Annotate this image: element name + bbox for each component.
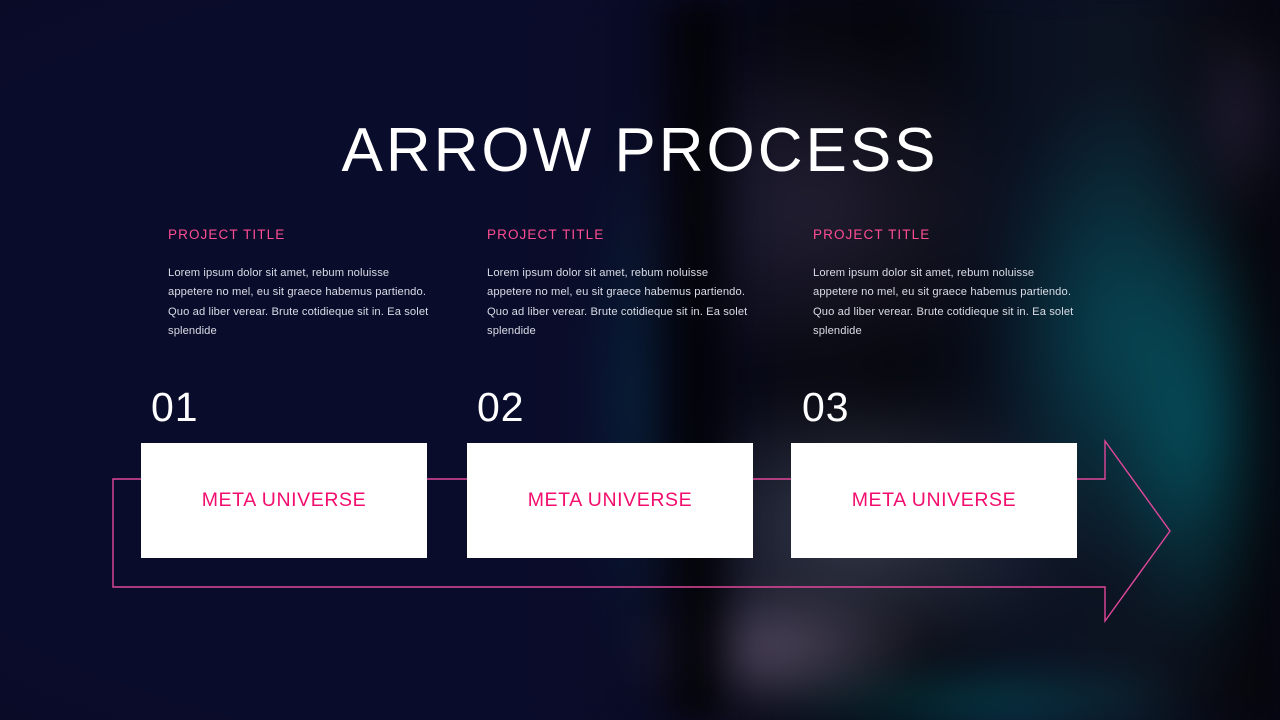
step-card-3[interactable]: META UNIVERSE bbox=[791, 443, 1077, 558]
slide-root: ARROW PROCESS PROJECT TITLE Lorem ipsum … bbox=[0, 0, 1280, 720]
step-card-label-2: META UNIVERSE bbox=[528, 491, 693, 511]
step-card-1[interactable]: META UNIVERSE bbox=[141, 443, 427, 558]
process-arrow-icon bbox=[0, 0, 1280, 720]
step-card-label-1: META UNIVERSE bbox=[202, 491, 367, 511]
step-card-2[interactable]: META UNIVERSE bbox=[467, 443, 753, 558]
step-card-label-3: META UNIVERSE bbox=[852, 491, 1017, 511]
